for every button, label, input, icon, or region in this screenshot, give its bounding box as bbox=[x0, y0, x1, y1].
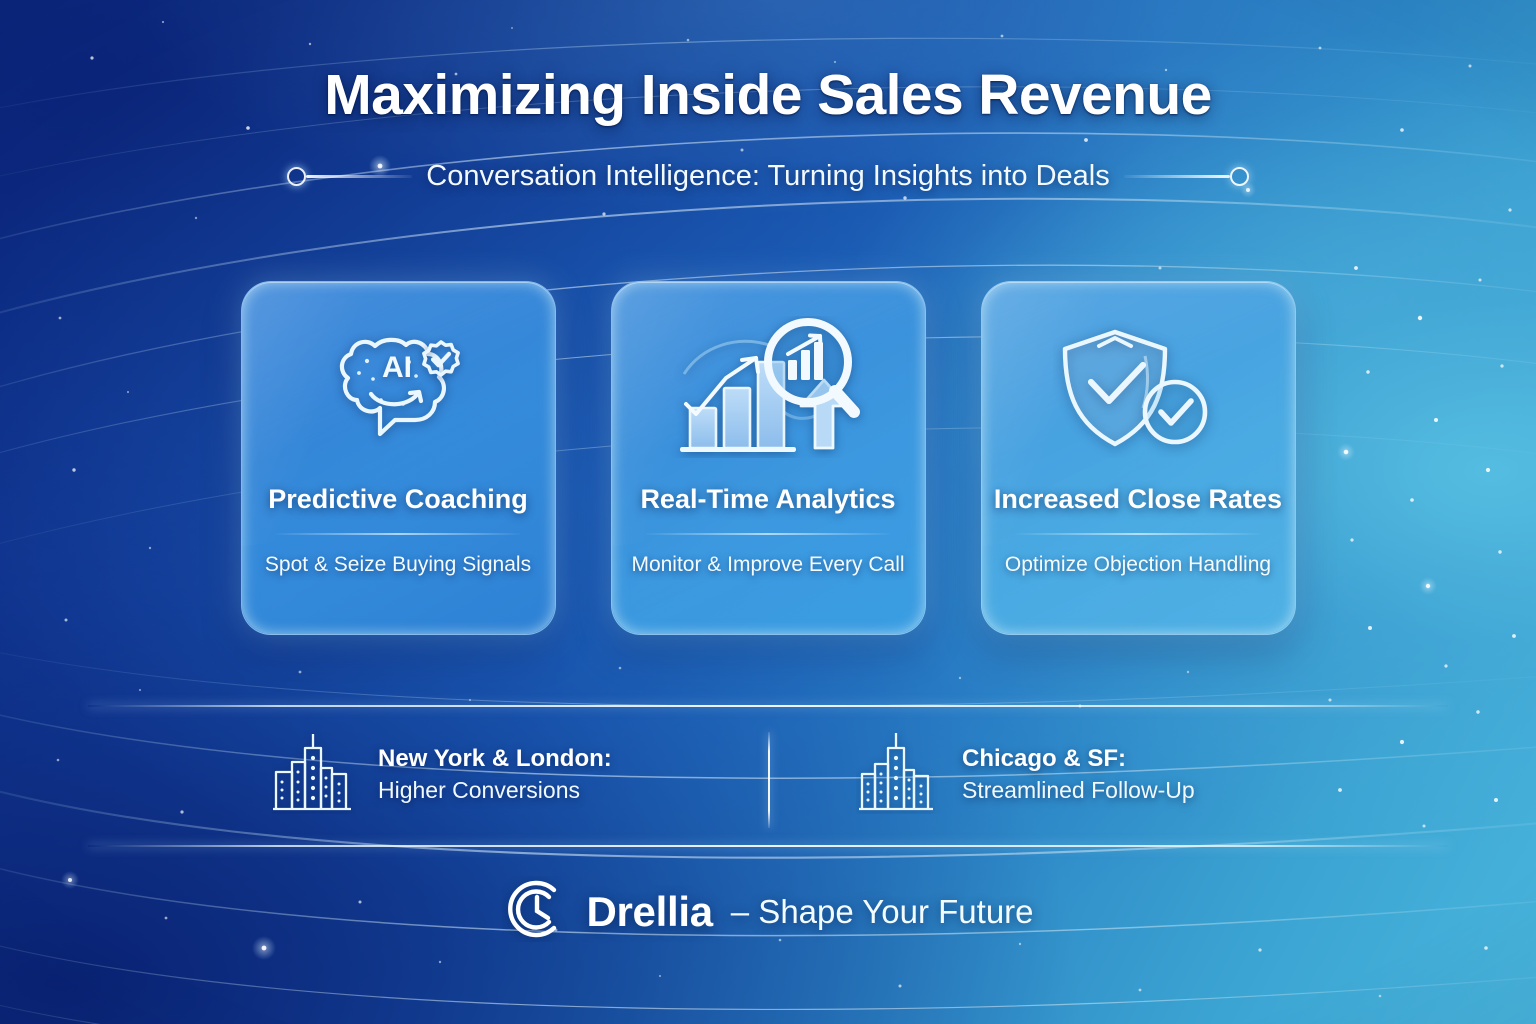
card-subtitle: Monitor & Improve Every Call bbox=[631, 553, 904, 577]
circle-node-icon bbox=[287, 167, 306, 186]
feature-cards: AI Predictive Coaching Spot & Seize Buyi… bbox=[0, 281, 1536, 635]
location-title: Chicago & SF: bbox=[962, 743, 1195, 775]
drellia-clock-spiral-logo bbox=[502, 876, 568, 947]
location-block-ny-london: New York & London: Higher Conversions bbox=[272, 730, 612, 819]
card-subtitle: Optimize Objection Handling bbox=[1005, 553, 1271, 577]
svg-text:AI: AI bbox=[382, 351, 412, 384]
page-title: Maximizing Inside Sales Revenue bbox=[0, 62, 1536, 128]
page-subtitle: Conversation Intelligence: Turning Insig… bbox=[426, 160, 1110, 193]
divider-top bbox=[88, 705, 1448, 707]
infographic-canvas: Maximizing Inside Sales Revenue Conversa… bbox=[0, 0, 1536, 1024]
location-text: Chicago & SF: Streamlined Follow-Up bbox=[962, 743, 1195, 806]
feature-card-increased-close-rates[interactable]: Increased Close Rates Optimize Objection… bbox=[981, 281, 1296, 635]
connector-line bbox=[306, 175, 412, 178]
city-skyline-icon bbox=[272, 730, 356, 819]
brand-tagline: – Shape Your Future bbox=[731, 893, 1034, 931]
divider-vertical bbox=[768, 732, 770, 828]
connector-line bbox=[1124, 175, 1230, 178]
location-text: New York & London: Higher Conversions bbox=[378, 743, 612, 806]
card-divider bbox=[646, 533, 890, 535]
brand-name: Drellia bbox=[586, 888, 712, 936]
card-divider bbox=[276, 533, 520, 535]
shield-check-icon bbox=[1053, 312, 1223, 462]
feature-card-predictive-coaching[interactable]: AI Predictive Coaching Spot & Seize Buyi… bbox=[241, 281, 556, 635]
divider-bottom bbox=[88, 845, 1448, 847]
card-title: Increased Close Rates bbox=[994, 484, 1282, 515]
card-title: Real-Time Analytics bbox=[640, 484, 895, 515]
header-block: Maximizing Inside Sales Revenue bbox=[0, 62, 1536, 128]
subtitle-connector-right bbox=[1124, 167, 1249, 186]
card-divider bbox=[1016, 533, 1260, 535]
footer-brand-row: Drellia – Shape Your Future bbox=[0, 876, 1536, 947]
location-title: New York & London: bbox=[378, 743, 612, 775]
city-skyline-icon bbox=[856, 730, 940, 819]
subtitle-connector-left bbox=[287, 167, 412, 186]
ai-brain-check-icon: AI bbox=[323, 312, 473, 462]
card-title: Predictive Coaching bbox=[268, 484, 528, 515]
bar-chart-magnifier-icon bbox=[668, 312, 868, 462]
location-subtitle: Higher Conversions bbox=[378, 775, 612, 806]
card-subtitle: Spot & Seize Buying Signals bbox=[265, 553, 531, 577]
feature-card-real-time-analytics[interactable]: Real-Time Analytics Monitor & Improve Ev… bbox=[611, 281, 926, 635]
location-block-chicago-sf: Chicago & SF: Streamlined Follow-Up bbox=[856, 730, 1195, 819]
subtitle-row: Conversation Intelligence: Turning Insig… bbox=[0, 160, 1536, 193]
circle-node-icon bbox=[1230, 167, 1249, 186]
location-subtitle: Streamlined Follow-Up bbox=[962, 775, 1195, 806]
